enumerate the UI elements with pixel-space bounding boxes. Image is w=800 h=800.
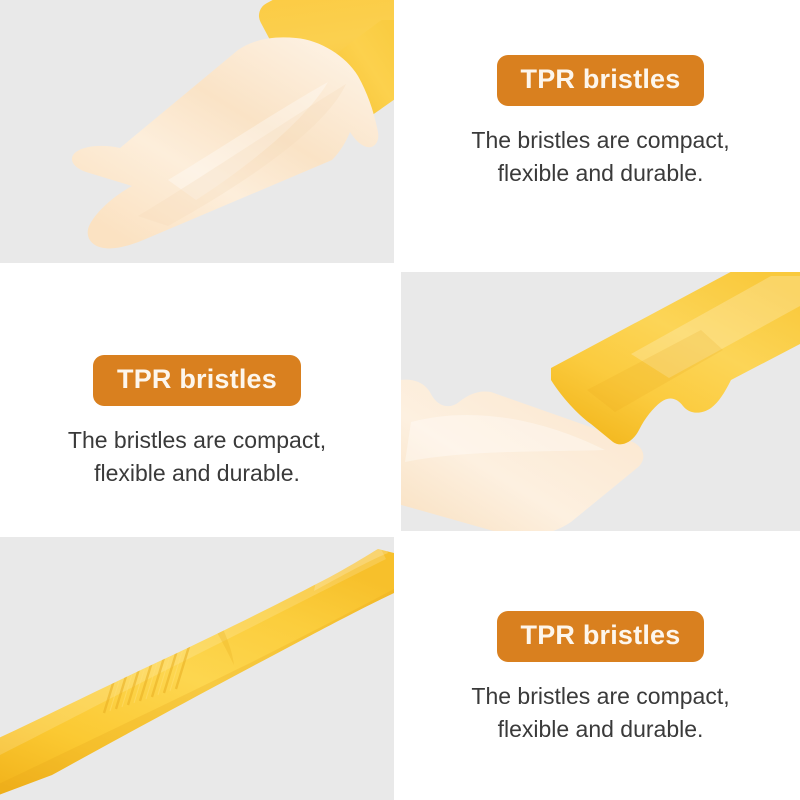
feature-block: TPR bristles The bristles are compact, f… (401, 55, 800, 189)
handle-junction-illustration (401, 272, 800, 531)
feature-description-line-1: The bristles are compact, (471, 680, 729, 713)
photo-panel-handle-junction (401, 272, 800, 531)
feature-description: The bristles are compact, flexible and d… (68, 424, 326, 489)
feature-description: The bristles are compact, flexible and d… (471, 680, 729, 745)
feature-badge: TPR bristles (497, 55, 705, 106)
photo-panel-blade-closeup (0, 0, 394, 263)
feature-description-line-2: flexible and durable. (471, 713, 729, 746)
feature-block: TPR bristles The bristles are compact, f… (401, 611, 800, 745)
product-photo-handle (0, 537, 394, 800)
feature-description-line-2: flexible and durable. (471, 157, 729, 190)
feature-description: The bristles are compact, flexible and d… (471, 124, 729, 189)
product-photo-junction (401, 272, 800, 531)
feature-text-panel-2: TPR bristles The bristles are compact, f… (0, 269, 394, 531)
feature-badge: TPR bristles (497, 611, 705, 662)
ribbed-handle-illustration (0, 537, 394, 800)
feature-block: TPR bristles The bristles are compact, f… (0, 355, 394, 489)
photo-panel-ribbed-handle (0, 537, 394, 800)
feature-description-line-1: The bristles are compact, (68, 424, 326, 457)
feature-description-line-1: The bristles are compact, (471, 124, 729, 157)
feature-text-panel-1: TPR bristles The bristles are compact, f… (401, 0, 800, 268)
product-photo-blade (0, 0, 394, 263)
feature-text-panel-3: TPR bristles The bristles are compact, f… (401, 537, 800, 800)
product-feature-grid: TPR bristles The bristles are compact, f… (0, 0, 800, 800)
feature-badge: TPR bristles (93, 355, 301, 406)
spatula-blade-illustration (28, 20, 394, 263)
feature-description-line-2: flexible and durable. (68, 457, 326, 490)
